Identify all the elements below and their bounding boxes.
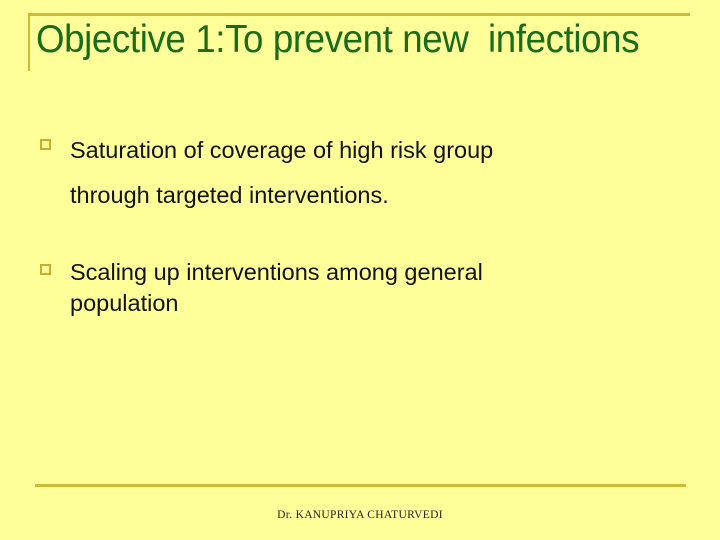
bullet-list: Saturation of coverage of high risk grou… bbox=[38, 128, 658, 319]
bullet-list-item: Saturation of coverage of high risk grou… bbox=[38, 128, 658, 218]
hollow-square-bullet-icon bbox=[40, 264, 51, 275]
footer-divider bbox=[35, 484, 686, 487]
footer-author: Dr. KANUPRIYA CHATURVEDI bbox=[0, 509, 720, 521]
hollow-square-bullet-icon bbox=[40, 139, 51, 150]
bullet-list-item-text: Scaling up interventions among general p… bbox=[70, 257, 658, 319]
presentation-slide: Objective 1:To prevent new infections Sa… bbox=[0, 0, 720, 540]
bullet-list-item-text: Saturation of coverage of high risk grou… bbox=[70, 128, 658, 218]
slide-title: Objective 1:To prevent new infections bbox=[36, 17, 656, 63]
bullet-list-item: Scaling up interventions among general p… bbox=[38, 257, 658, 319]
